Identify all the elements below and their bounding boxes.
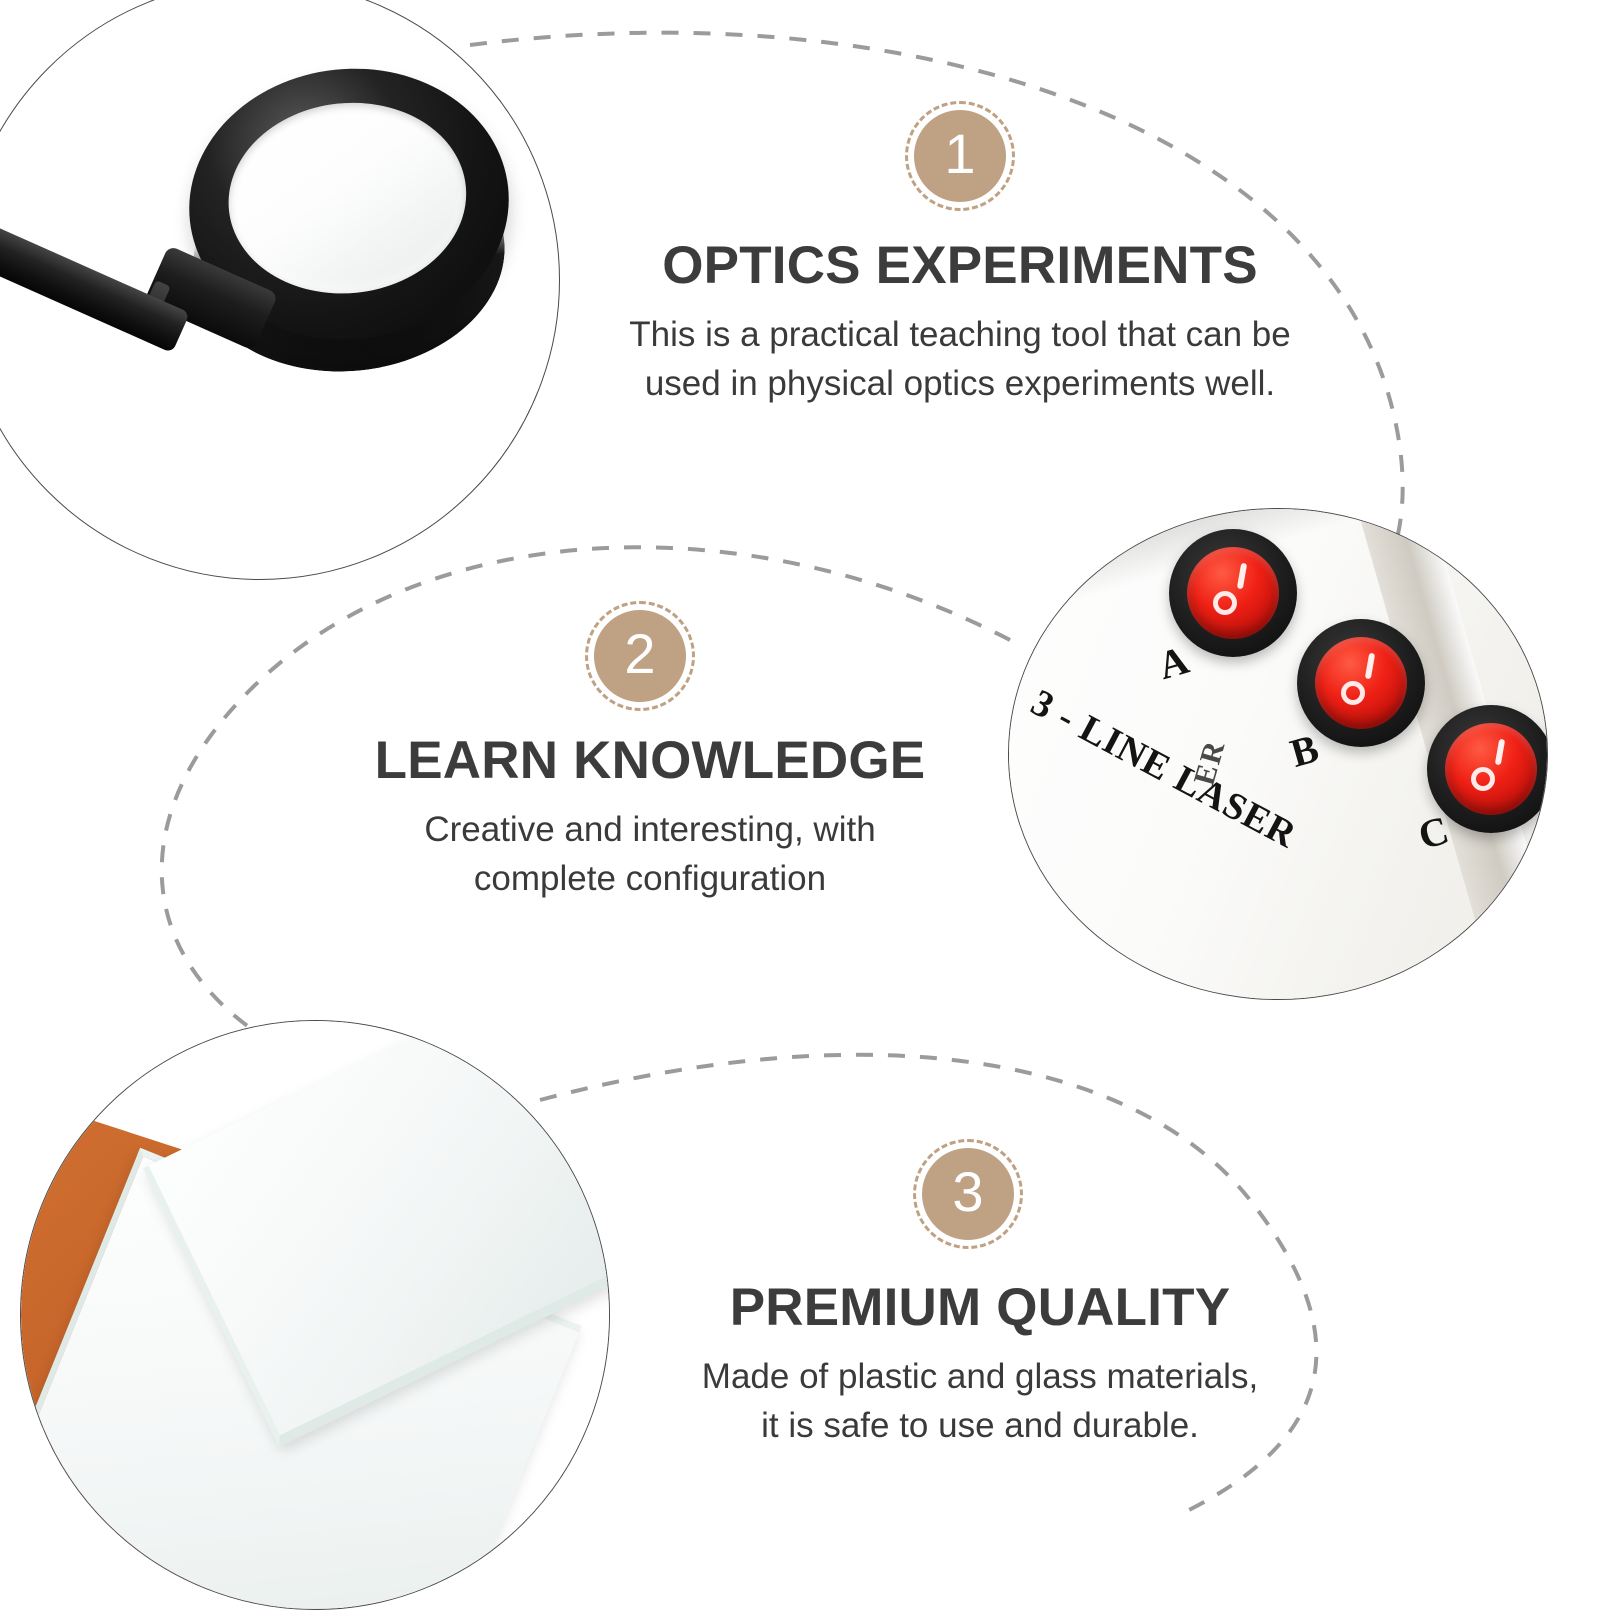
feature-description-2-line2: complete configuration (260, 854, 1040, 904)
feature-description-1-line2: used in physical optics experiments well… (560, 359, 1360, 409)
feature-description-2-line1: Creative and interesting, with (260, 805, 1040, 855)
feature-description-1-line1: This is a practical teaching tool that c… (560, 310, 1360, 360)
photo-magnifying-glass (0, 0, 560, 580)
step-badge-1: 1 (914, 110, 1006, 202)
badge-number: 3 (952, 1164, 983, 1220)
feature-block-3: PREMIUM QUALITY Made of plastic and glas… (600, 1280, 1360, 1451)
badge-number: 1 (944, 126, 975, 182)
step-badge-2: 2 (594, 610, 686, 702)
infographic-canvas: A B C 3 - LINE LASER ER 1 2 3 OPTICS EXP… (0, 0, 1600, 1600)
switch-on-marker (1495, 739, 1505, 766)
feature-block-2: LEARN KNOWLEDGE Creative and interesting… (260, 733, 1040, 904)
step-badge-3: 3 (922, 1148, 1014, 1240)
switch-off-marker (1213, 591, 1237, 615)
switch-off-marker (1341, 681, 1365, 705)
feature-description-3-line2: it is safe to use and durable. (600, 1401, 1360, 1451)
switch-off-marker (1471, 767, 1495, 791)
feature-block-1: OPTICS EXPERIMENTS This is a practical t… (560, 238, 1360, 409)
feature-title-1: OPTICS EXPERIMENTS (560, 238, 1360, 294)
switch-on-marker (1365, 653, 1375, 680)
feature-title-3: PREMIUM QUALITY (600, 1280, 1360, 1336)
feature-description-3-line1: Made of plastic and glass materials, (600, 1352, 1360, 1402)
badge-number: 2 (624, 626, 655, 682)
feature-title-2: LEARN KNOWLEDGE (260, 733, 1040, 789)
rocker-switch-b[interactable] (1297, 619, 1425, 747)
rocker-switch-c[interactable] (1427, 705, 1548, 833)
photo-laser-switch-panel: A B C 3 - LINE LASER ER (1008, 508, 1548, 1000)
photo-glass-plates (20, 1020, 610, 1610)
